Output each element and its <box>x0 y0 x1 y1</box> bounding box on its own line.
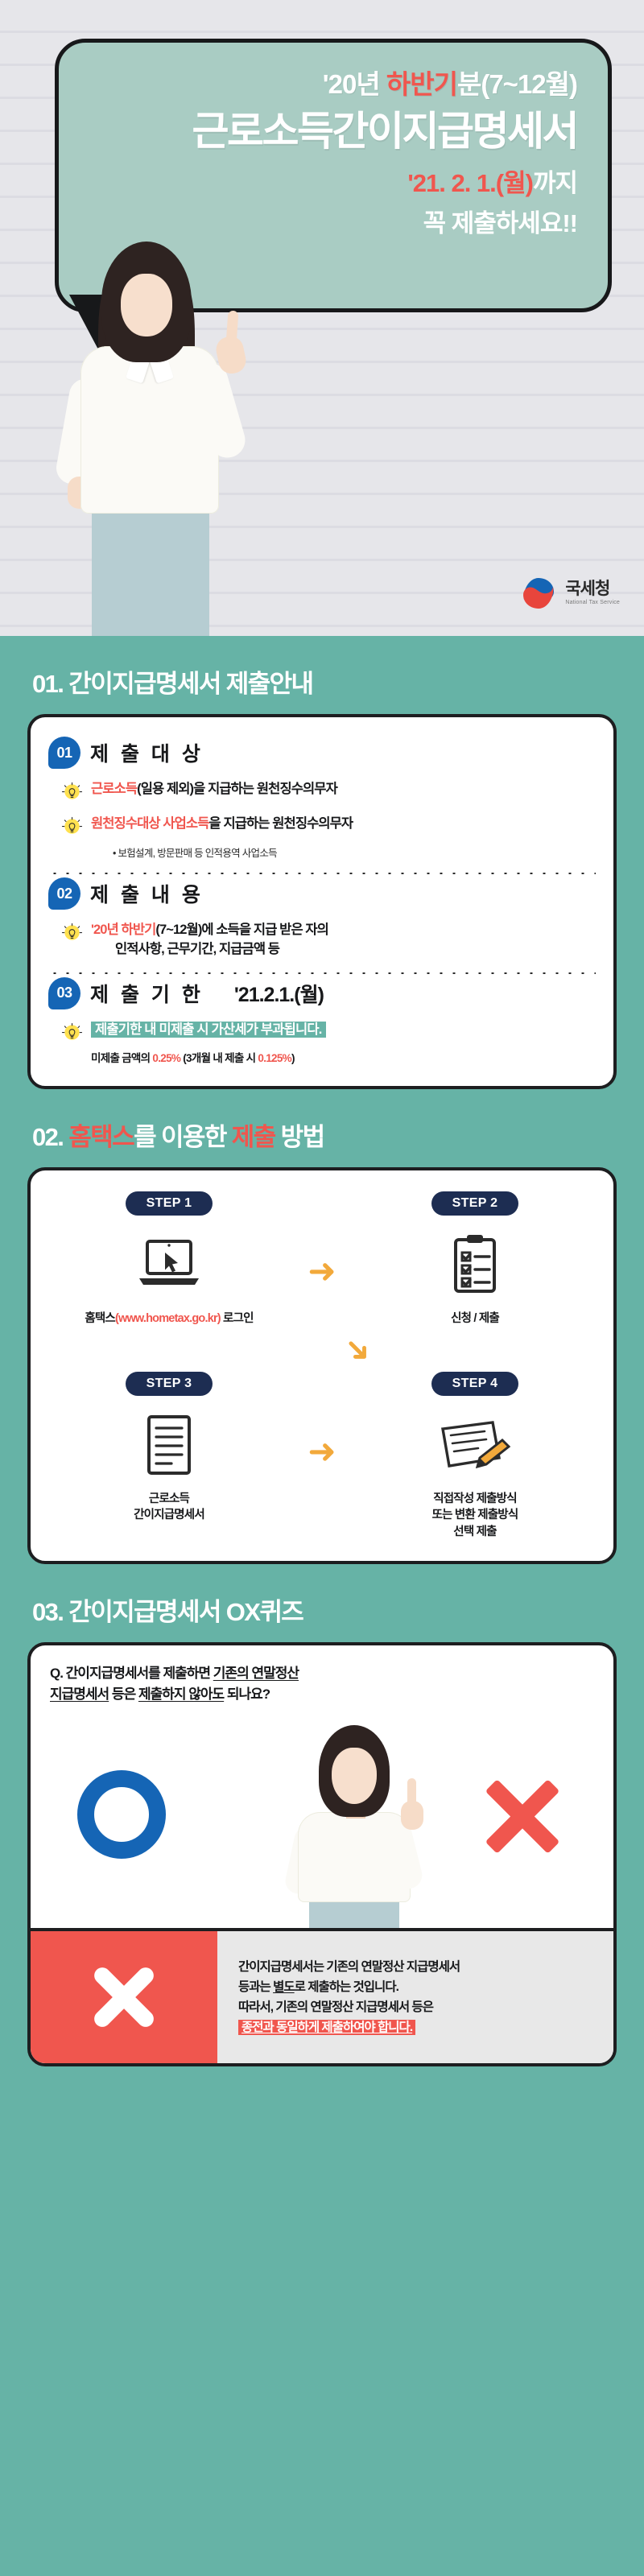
submission-deadline-item: 03 제 출 기 한 '21.2.1.(월) <box>48 977 596 1065</box>
step-1-label-b: 로그인 <box>221 1312 254 1325</box>
bullet-highlight: 근로소득 <box>91 782 137 796</box>
step-4: STEP 4 <box>351 1372 599 1540</box>
step-3-label: 근로소득 간이지급명세서 <box>45 1491 293 1524</box>
bullet-row: 제출기한 내 미제출 시 가산세가 부과됩니다. <box>48 1021 596 1044</box>
step-2-badge: STEP 2 <box>431 1191 519 1216</box>
hero-deadline-date: '21. 2. 1.(월) <box>407 169 533 197</box>
arrow-right-icon: ➜ <box>308 1254 336 1288</box>
lightbulb-icon <box>61 816 83 838</box>
subnote-rate-1: 0.25% <box>152 1052 180 1064</box>
laptop-cursor-icon <box>133 1236 205 1294</box>
lightbulb-icon <box>61 1022 83 1044</box>
quiz-question-underline-1: 기존의 연말정산 <box>213 1666 299 1681</box>
section-02-title-submit: 제출 <box>232 1123 275 1151</box>
submission-content-item: 02 제 출 내 용 <box>48 877 596 960</box>
answer-highlight: 종전과 동일하게 제출하여야 합니다. <box>238 2020 415 2035</box>
quiz-model-photo <box>269 1725 438 1928</box>
step-2: STEP 2 <box>351 1191 599 1327</box>
section-01: 01. 간이지급명세서 제출안내 01 제 출 대 상 <box>0 636 644 1089</box>
lightbulb-icon <box>61 782 83 803</box>
hero-line-3: '21. 2. 1.(월)까지 <box>59 167 577 200</box>
section-02-title-hometax: 홈택스 <box>68 1123 134 1151</box>
quiz-options-stage <box>31 1719 613 1928</box>
hero-halfyear-text: 하반기 <box>386 69 457 99</box>
step-1-label-a: 홈택스 <box>85 1312 115 1325</box>
subnote-part-c: ) <box>291 1052 295 1064</box>
bullet-rest: (일용 제외)을 지급하는 원천징수의무자 <box>137 782 337 796</box>
section-02-title-c: 방법 <box>275 1123 324 1151</box>
bullet-rest: (7~12월)에 소득을 지급 받은 자의 <box>155 923 328 937</box>
step-3-badge: STEP 3 <box>126 1372 213 1396</box>
quiz-answer-row: 간이지급명세서는 기존의 연말정산 지급명세서 등과는 별도로 제출하는 것입니… <box>31 1928 613 2063</box>
quiz-question: Q. 간이지급명세서를 제출하면 기존의 연말정산 지급명세서 등은 제출하지 … <box>31 1645 613 1719</box>
document-icon <box>142 1414 196 1478</box>
bullet-row: '20년 하반기(7~12월)에 소득을 지급 받은 자의 인적사항, 근무기간… <box>48 921 596 960</box>
arrow-2-to-3: ➜ <box>45 1331 599 1368</box>
quiz-answer-body: 간이지급명세서는 기존의 연말정산 지급명세서 등과는 별도로 제출하는 것입니… <box>217 1931 613 2063</box>
subnote-part-a: 미제출 금액의 <box>91 1052 152 1064</box>
step-3-icon-wrap <box>45 1409 293 1483</box>
answer-line-2-bold: 별도 <box>273 1980 295 1994</box>
penalty-highlight-text: 제출기한 내 미제출 시 가산세가 부과됩니다. <box>91 1022 326 1038</box>
step-3-label-line2: 간이지급명세서 <box>45 1507 293 1523</box>
bullet-text: 근로소득(일용 제외)을 지급하는 원천징수의무자 <box>91 780 337 803</box>
divider-dotted <box>48 873 596 874</box>
step-4-badge: STEP 4 <box>431 1372 519 1396</box>
bullet-text: '20년 하반기(7~12월)에 소득을 지급 받은 자의 인적사항, 근무기간… <box>91 921 328 960</box>
section-01-title: 01. 간이지급명세서 제출안내 <box>27 636 617 714</box>
bullet-rest: 을 지급하는 원천징수의무자 <box>208 816 353 831</box>
step-2-label: 신청 / 제출 <box>351 1311 599 1327</box>
item-02-second-line: 인적사항, 근무기간, 지급금액 등 <box>91 940 328 960</box>
answer-line-1: 간이지급명세서는 기존의 연말정산 지급명세서 <box>238 1957 596 1977</box>
step-2-icon-wrap <box>351 1228 599 1302</box>
item-03-badge: 03 <box>48 977 80 1009</box>
item-02-header: 02 제 출 내 용 <box>48 877 596 910</box>
quiz-question-underline-2: 지급명세서 <box>50 1686 109 1702</box>
arrow-1-to-2: ➜ <box>293 1191 351 1288</box>
answer-line-3: 따라서, 기존의 연말정산 지급명세서 등은 <box>238 1997 596 2017</box>
arrow-right-icon: ➜ <box>308 1435 336 1468</box>
step-1-icon-wrap <box>45 1228 293 1302</box>
logo-subtitle-text: National Tax Service <box>565 600 620 605</box>
quiz-question-a: Q. 간이지급명세서를 제출하면 <box>50 1666 213 1681</box>
quiz-option-o[interactable] <box>77 1770 166 1859</box>
item-02-title: 제 출 내 용 <box>90 879 204 908</box>
section-02-title: 02. 홈택스를 이용한 제출 방법 <box>27 1089 617 1167</box>
hero-section: '20년 하반기분(7~12월) 근로소득간이지급명세서 '21. 2. 1.(… <box>0 0 644 636</box>
hero-call-to-action: 꼭 제출하세요!! <box>59 203 577 239</box>
item-01-title: 제 출 대 상 <box>90 738 204 767</box>
section-01-card: 01 제 출 대 상 <box>27 714 617 1089</box>
step-4-label: 직접작성 제출방식 또는 변환 제출방식 선택 제출 <box>351 1491 599 1540</box>
bullet-text: 제출기한 내 미제출 시 가산세가 부과됩니다. <box>91 1021 326 1044</box>
quiz-option-x[interactable] <box>478 1772 567 1860</box>
section-03: 03. 간이지급명세서 OX퀴즈 Q. 간이지급명세서를 제출하면 기존의 연말… <box>0 1564 644 2099</box>
hero-model-photo <box>18 242 283 636</box>
arrow-3-to-4: ➜ <box>293 1372 351 1468</box>
quiz-question-underline-3: 제출하지 않아도 <box>138 1686 224 1702</box>
infographic-page: '20년 하반기분(7~12월) 근로소득간이지급명세서 '21. 2. 1.(… <box>0 0 644 2576</box>
item-02-badge: 02 <box>48 877 80 910</box>
hero-period-text: 분(7~12월) <box>457 69 577 99</box>
pencil-form-icon <box>438 1416 512 1476</box>
section-02: 02. 홈택스를 이용한 제출 방법 STEP 1 홈택스(w <box>0 1089 644 1564</box>
logo-name-text: 국세청 <box>565 580 620 598</box>
item-01-header: 01 제 출 대 상 <box>48 737 596 769</box>
checklist-icon <box>446 1233 504 1298</box>
hero-line-1: '20년 하반기분(7~12월) <box>59 68 577 101</box>
hero-main-title: 근로소득간이지급명세서 <box>59 109 577 154</box>
answer-line-4: 종전과 동일하게 제출하여야 합니다. <box>238 2017 596 2037</box>
step-4-label-line2: 또는 변환 제출방식 <box>351 1507 599 1523</box>
item-03-subnote: 미제출 금액의 0.25% (3개월 내 제출 시 0.125%) <box>48 1049 596 1065</box>
section-03-title: 03. 간이지급명세서 OX퀴즈 <box>27 1564 617 1642</box>
section-02-title-b: 를 이용한 <box>134 1123 232 1151</box>
national-tax-service-logo: 국세청 National Tax Service <box>520 575 620 612</box>
steps-row-bottom: STEP 3 <box>45 1372 599 1540</box>
item-01-note: • 보험설계, 방문판매 등 인적용역 사업소득 <box>48 844 596 860</box>
step-1-url: (www.hometax.go.kr) <box>115 1312 221 1325</box>
bullet-highlight: 원천징수대상 사업소득 <box>91 816 208 831</box>
step-1: STEP 1 홈택스(www.hometax.go.kr) 로그인 <box>45 1191 293 1327</box>
arrow-down-icon: ➜ <box>336 1327 381 1373</box>
answer-line-2: 등과는 별도로 제출하는 것입니다. <box>238 1977 596 1997</box>
item-03-deadline-date: '21.2.1.(월) <box>234 979 324 1008</box>
answer-line-2-a: 등과는 <box>238 1980 273 1994</box>
hero-deadline-suffix: 까지 <box>533 169 577 197</box>
bullet-row: 원천징수대상 사업소득을 지급하는 원천징수의무자 <box>48 815 596 838</box>
quiz-answer-mark <box>31 1931 217 2063</box>
step-4-label-a: 직접작성 제출방식 <box>433 1492 517 1505</box>
lightbulb-icon <box>61 923 83 944</box>
step-4-label-line3: 선택 제출 <box>351 1524 599 1540</box>
subnote-rate-2: 0.125% <box>258 1052 291 1064</box>
step-1-badge: STEP 1 <box>126 1191 213 1216</box>
submission-target-item: 01 제 출 대 상 <box>48 737 596 860</box>
hero-year-text: '20년 <box>323 69 386 99</box>
steps-card: STEP 1 홈택스(www.hometax.go.kr) 로그인 <box>27 1167 617 1564</box>
steps-row-top: STEP 1 홈택스(www.hometax.go.kr) 로그인 <box>45 1191 599 1327</box>
quiz-question-b: 등은 <box>109 1686 138 1702</box>
quiz-card: Q. 간이지급명세서를 제출하면 기존의 연말정산 지급명세서 등은 제출하지 … <box>27 1642 617 2066</box>
bullet-highlight: '20년 하반기 <box>91 923 155 937</box>
bullet-text: 원천징수대상 사업소득을 지급하는 원천징수의무자 <box>91 815 353 838</box>
step-3: STEP 3 <box>45 1372 293 1524</box>
item-01-badge: 01 <box>48 737 80 769</box>
bullet-row: 근로소득(일용 제외)을 지급하는 원천징수의무자 <box>48 780 596 803</box>
taegeuk-logo-icon <box>520 575 557 612</box>
step-3-label-a: 근로소득 <box>149 1492 189 1505</box>
quiz-question-c: 되나요? <box>224 1686 270 1702</box>
subnote-part-b: (3개월 내 제출 시 <box>180 1052 258 1064</box>
divider-dotted <box>48 972 596 974</box>
item-03-title: 제 출 기 한 <box>90 979 204 1008</box>
answer-line-2-c: 로 제출하는 것입니다. <box>295 1980 398 1994</box>
step-1-label: 홈택스(www.hometax.go.kr) 로그인 <box>45 1311 293 1327</box>
step-4-icon-wrap <box>351 1409 599 1483</box>
item-03-header: 03 제 출 기 한 '21.2.1.(월) <box>48 977 596 1009</box>
section-02-title-a: 02. <box>32 1123 68 1151</box>
x-mark-icon <box>85 1959 163 2036</box>
